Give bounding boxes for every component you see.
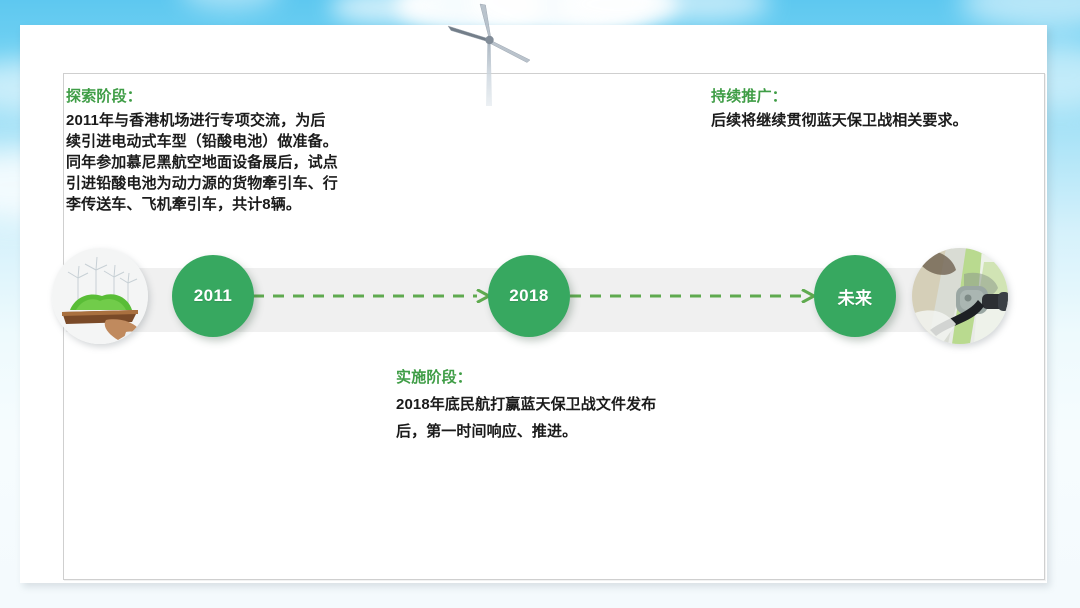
timeline-node-future[interactable]: 未来 — [814, 255, 896, 337]
implement-heading: 实施阶段： — [396, 367, 726, 389]
implement-line: 2018年底民航打赢蓝天保卫战文件发布 — [396, 391, 726, 418]
explore-line: 李传送车、飞机牽引车，共计8辆。 — [66, 194, 356, 215]
implement-body: 2018年底民航打赢蓝天保卫战文件发布 后，第一时间响应、推进。 — [396, 391, 726, 445]
timeline-node-label: 2018 — [509, 286, 548, 306]
cloud-shape — [180, 0, 280, 10]
explore-line: 同年参加慕尼黑航空地面设备展后，试点 — [66, 152, 356, 173]
promote-heading: 持续推广： — [711, 86, 1041, 108]
implement-line: 后，第一时间响应、推进。 — [396, 418, 726, 445]
cloud-shape — [560, 0, 680, 28]
timeline-node-2018[interactable]: 2018 — [488, 255, 570, 337]
explore-body: 2011年与香港机场进行专项交流，为后 续引进电动式车型（铅酸电池）做准备。 同… — [66, 110, 356, 215]
photo-ev-charging-plug — [912, 248, 1008, 344]
text-block-explore: 探索阶段： 2011年与香港机场进行专项交流，为后 续引进电动式车型（铅酸电池）… — [66, 86, 356, 215]
text-block-implement: 实施阶段： 2018年底民航打赢蓝天保卫战文件发布 后，第一时间响应、推进。 — [396, 367, 726, 445]
explore-heading: 探索阶段： — [66, 86, 356, 108]
timeline-node-label: 2011 — [194, 286, 232, 306]
explore-line: 2011年与香港机场进行专项交流，为后 — [66, 110, 356, 131]
promote-body: 后续将继续贯彻蓝天保卫战相关要求。 — [711, 110, 1041, 131]
explore-line: 续引进电动式车型（铅酸电池）做准备。 — [66, 131, 356, 152]
promote-line: 后续将继续贯彻蓝天保卫战相关要求。 — [711, 110, 1041, 131]
cloud-shape — [330, 0, 440, 24]
timeline-connector-arrow — [570, 289, 816, 303]
text-block-promote: 持续推广： 后续将继续贯彻蓝天保卫战相关要求。 — [711, 86, 1041, 131]
timeline-node-label: 未来 — [838, 284, 873, 309]
cloud-shape — [640, 0, 770, 22]
explore-line: 引进铅酸电池为动力源的货物牽引车、行 — [66, 173, 356, 194]
slide-canvas: 2011 2018 未来 探索 — [0, 0, 1080, 608]
timeline-connector-arrow — [253, 289, 491, 303]
timeline-node-2011[interactable]: 2011 — [172, 255, 254, 337]
photo-hand-green-landscape — [52, 248, 148, 344]
